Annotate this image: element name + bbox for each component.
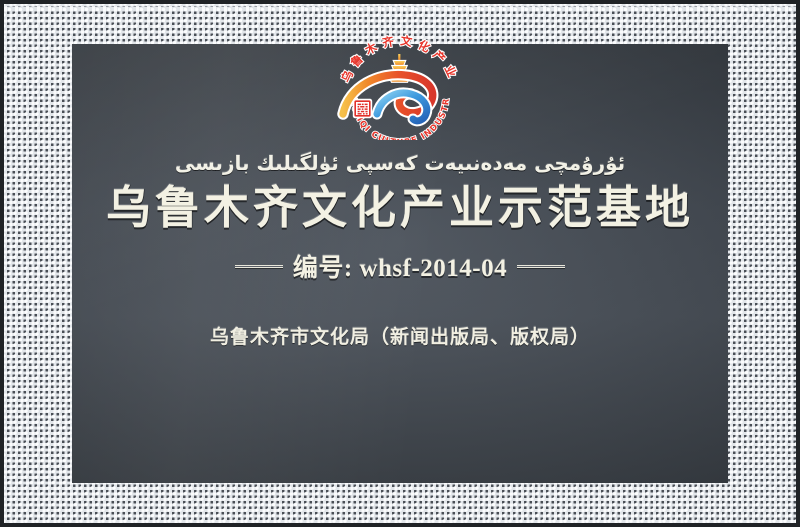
award-plaque: 乌鲁木齐文化产业 URUMQI CULTURE INDUSTRY (0, 0, 800, 527)
rule-right (517, 265, 565, 268)
plaque-content: 乌鲁木齐文化产业 URUMQI CULTURE INDUSTRY (0, 0, 800, 527)
rule-left (235, 265, 283, 268)
urumqi-culture-industry-logo: 乌鲁木齐文化产业 URUMQI CULTURE INDUSTRY (325, 28, 475, 140)
issuing-authority: 乌鲁木齐市文化局（新闻出版局、版权局） (210, 322, 590, 349)
serial-number-row: 编号: whsf-2014-04 (235, 248, 565, 284)
page-title: 乌鲁木齐文化产业示范基地 (106, 181, 694, 234)
uyghur-title: ئۇرۇمچى مەدەنىيەت كەسپى ئۈلگىلىك بازىسى (175, 151, 625, 175)
red-seal-icon (354, 100, 371, 117)
serial-number: 编号: whsf-2014-04 (293, 248, 507, 284)
